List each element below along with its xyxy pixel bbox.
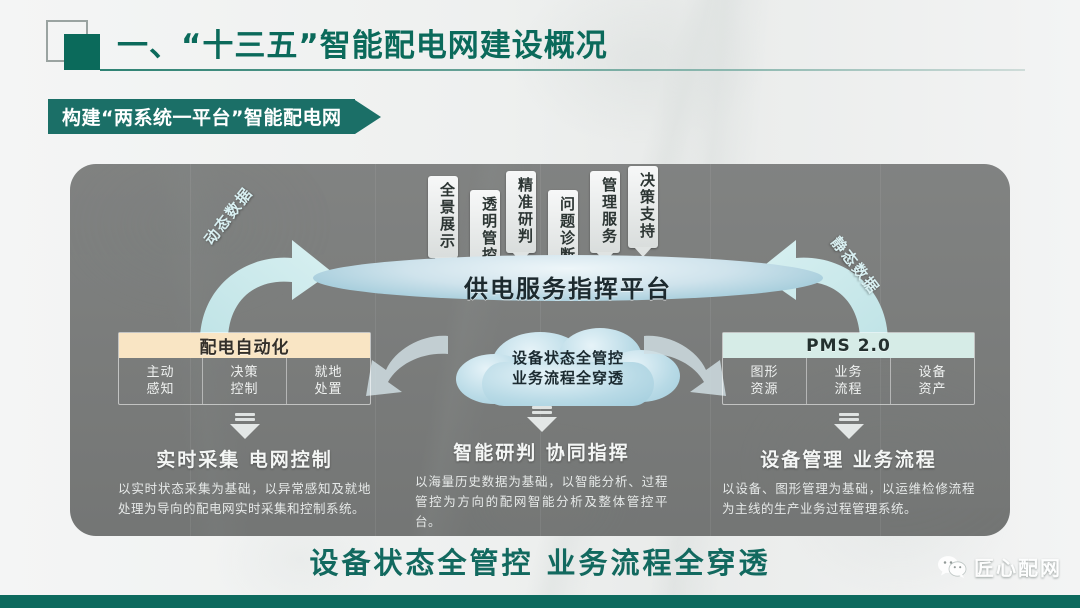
capability-tab-4[interactable]: 管理服务 [590,171,620,253]
da-card-body: 主动 感知 决策 控制 就地 处置 [119,358,370,404]
da-cell-2: 就地 处置 [286,358,370,404]
cell-line-1: 业务 [834,364,862,381]
cell-line-1: 就地 [314,364,342,381]
cell-line-2: 感知 [146,381,174,398]
watermark-label: 匠心配网 [974,552,1062,581]
cell-line-1: 设备 [918,364,946,381]
da-cell-0: 主动 感知 [119,358,202,404]
watermark: 匠心配网 [937,552,1062,581]
ip-description: 以海量历史数据为基础，以智能分析、过程管控为方向的配网智能分析及整体管控平台。 [415,472,668,532]
capability-tab-label: 精准研判 [506,171,536,245]
capability-tab-2[interactable]: 精准研判 [506,171,536,253]
pms-cell-1: 业务 流程 [806,358,890,404]
pms-card-body: 图形 资源 业务 流程 设备 资产 [723,358,974,404]
capability-tab-0[interactable]: 全景展示 [428,176,458,258]
cell-line-2: 流程 [834,381,862,398]
capability-tab-label: 管理服务 [590,171,620,245]
cell-line-1: 图形 [750,364,778,381]
cloud-line-2: 业务流程全穿透 [452,368,684,388]
da-card: 配电自动化 主动 感知 决策 控制 就地 处置 [118,332,371,405]
capability-tab-label: 决策支持 [628,166,658,240]
down-arrow-icon [230,413,260,439]
capability-tab-label: 问题诊断 [548,190,578,264]
pms-cell-2: 设备 资产 [890,358,974,404]
slide-canvas: 一、“十三五”智能配电网建设概况 构建“两系统一平台”智能配电网 动态数据 [0,0,1080,608]
da-cell-1: 决策 控制 [202,358,286,404]
cell-line-2: 处置 [314,381,342,398]
cell-line-2: 资产 [918,381,946,398]
capability-tab-5[interactable]: 决策支持 [628,166,658,248]
pms-cell-0: 图形 资源 [723,358,806,404]
ip-headline: 智能研判 协同指挥 [415,438,668,465]
column-distribution-automation: 配电自动化 主动 感知 决策 控制 就地 处置 实时采集 电网控制 以实时状态采… [118,332,371,519]
down-arrow-icon [834,413,864,439]
bottom-slogan: 设备状态全管控 业务流程全穿透 [0,540,1080,582]
cloud-text: 设备状态全管控 业务流程全穿透 [452,348,684,388]
cell-line-1: 主动 [146,364,174,381]
da-headline: 实时采集 电网控制 [118,445,371,472]
cloud-line-1: 设备状态全管控 [452,348,684,368]
footer-bar [0,595,1080,608]
cell-line-2: 资源 [750,381,778,398]
capability-tab-label: 全景展示 [428,176,458,250]
cell-line-1: 决策 [230,364,258,381]
service-platform-disc: 供电服务指挥平台 [313,255,823,321]
column-intelligent-platform: 智能研判 协同指挥 以海量历史数据为基础，以智能分析、过程管控为方向的配网智能分… [415,398,668,532]
pms-card-header: PMS 2.0 [723,333,974,358]
da-card-header: 配电自动化 [119,333,370,358]
cell-line-2: 控制 [230,381,258,398]
capability-tab-label: 透明管控 [470,190,500,264]
column-pms: PMS 2.0 图形 资源 业务 流程 设备 资产 设备管理 业务流程 以设备、… [722,332,975,519]
pms-headline: 设备管理 业务流程 [722,445,975,472]
pms-description: 以设备、图形管理为基础，以运维检修流程为主线的生产业务过程管理系统。 [722,479,975,519]
wechat-icon [937,555,967,579]
service-platform-label: 供电服务指挥平台 [313,269,823,304]
da-description: 以实时状态采集为基础，以异常感知及就地处理为导向的配电网实时采集和控制系统。 [118,479,371,519]
pms-card: PMS 2.0 图形 资源 业务 流程 设备 资产 [722,332,975,405]
down-arrow-icon [527,406,557,432]
